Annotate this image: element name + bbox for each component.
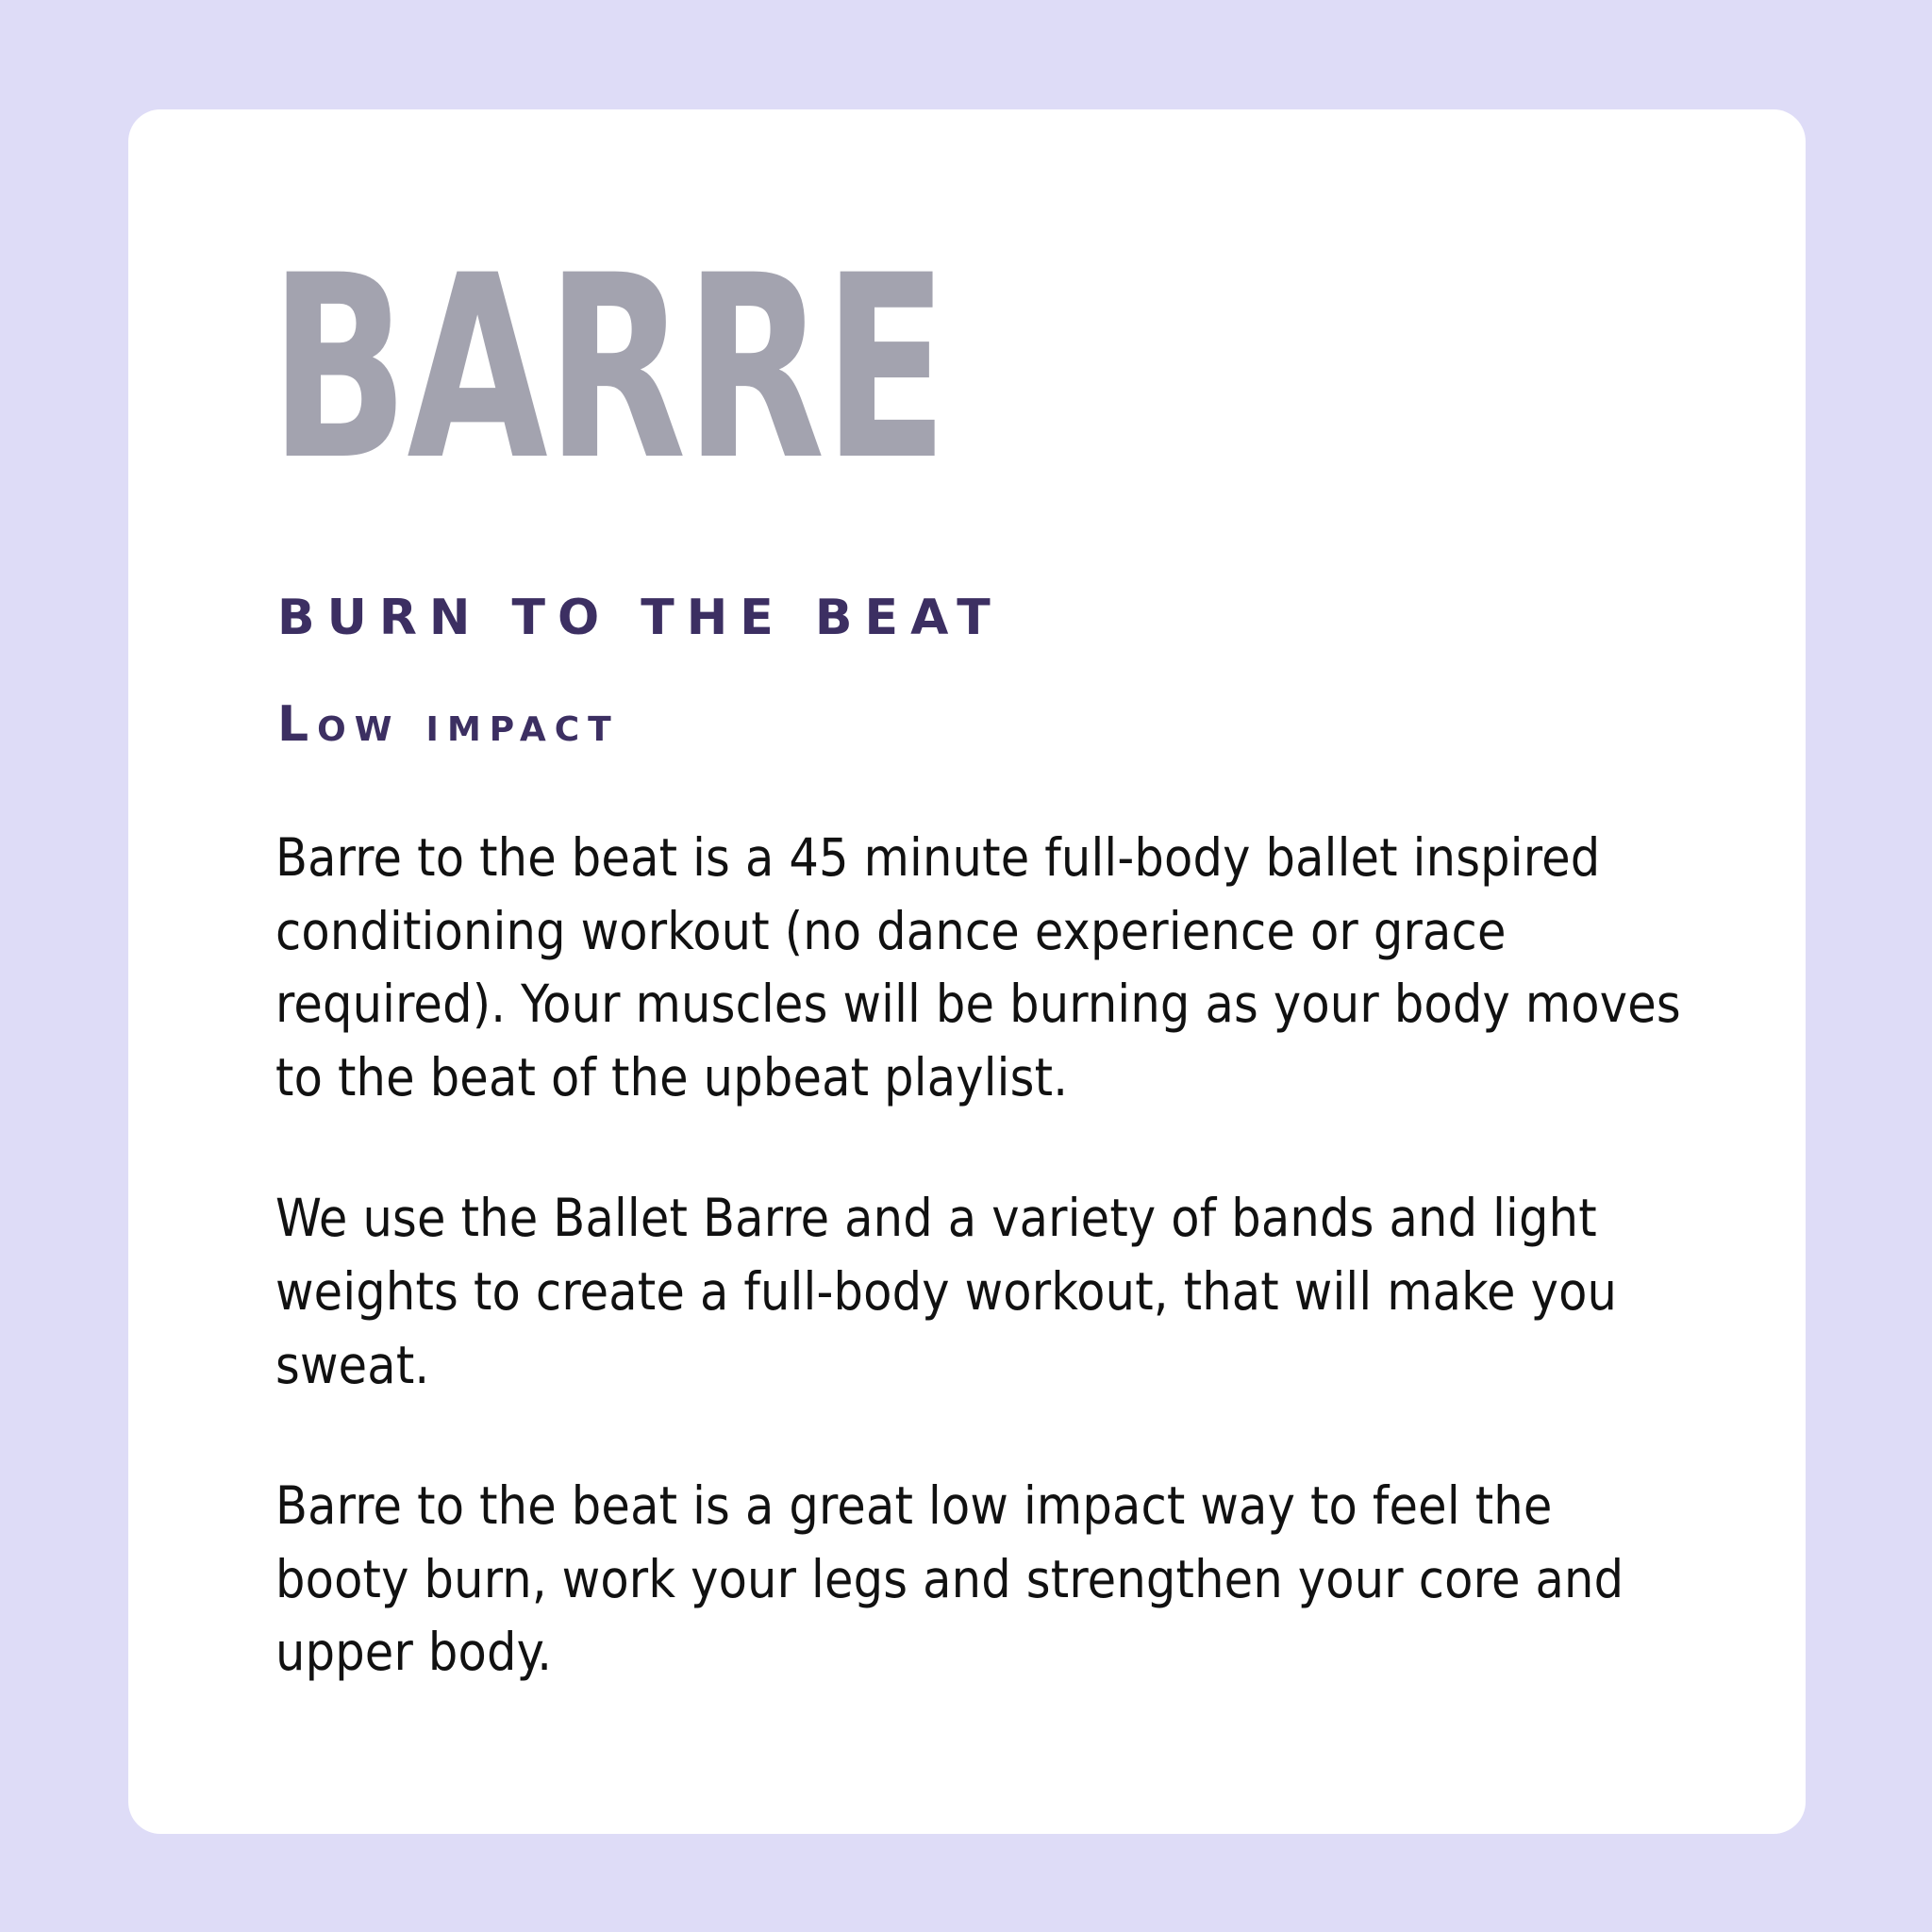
- page-root: BARRE Burn to the beat Low impact Barre …: [0, 0, 1932, 1932]
- description-paragraph: Barre to the beat is a great low impact …: [275, 1470, 1690, 1690]
- page-title: BARRE: [217, 260, 1424, 477]
- card-content: BARRE Burn to the beat Low impact Barre …: [283, 260, 1726, 1690]
- description-paragraph: Barre to the beat is a 45 minute full-bo…: [275, 822, 1690, 1114]
- description-body: Barre to the beat is a 45 minute full-bo…: [275, 822, 1726, 1689]
- eyebrow-group: Burn to the beat Low impact: [283, 589, 1726, 754]
- tagline-primary: Burn to the beat: [277, 589, 1726, 647]
- tagline-secondary: Low impact: [277, 695, 1726, 754]
- description-paragraph: We use the Ballet Barre and a variety of…: [275, 1182, 1690, 1402]
- class-description-card: BARRE Burn to the beat Low impact Barre …: [128, 109, 1806, 1834]
